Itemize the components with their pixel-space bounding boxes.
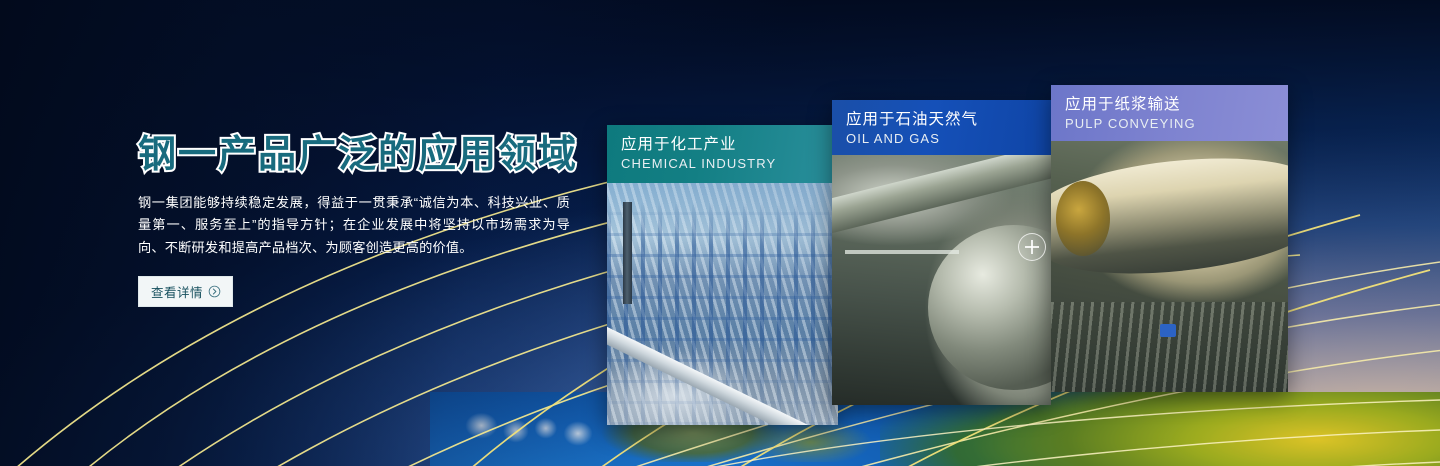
application-card-chemical[interactable]: 应用于化工产业 CHEMICAL INDUSTRY (607, 125, 838, 425)
page-title: 钢一产品广泛的应用领域 (138, 133, 578, 178)
hero-banner: 钢一产品广泛的应用领域 钢一集团能够持续稳定发展，得益于一贯秉承“诚信为本、科技… (0, 0, 1440, 466)
oil-and-gas-refinery-photo (832, 155, 1051, 405)
view-details-label: 查看详情 (151, 282, 203, 301)
chemical-plant-chimney (623, 202, 632, 304)
card-title-en: CHEMICAL INDUSTRY (621, 155, 838, 173)
card-header-chemical: 应用于化工产业 CHEMICAL INDUSTRY (607, 125, 838, 183)
card-header-pulp: 应用于纸浆输送 PULP CONVEYING (1051, 85, 1288, 141)
application-card-pulp[interactable]: 应用于纸浆输送 PULP CONVEYING (1051, 85, 1288, 392)
headline-block: 钢一产品广泛的应用领域 钢一集团能够持续稳定发展，得益于一贯秉承“诚信为本、科技… (138, 133, 578, 307)
card-title-en: OIL AND GAS (846, 130, 1051, 148)
paper-mill-roller-photo (1051, 141, 1288, 392)
mill-blue-fitting (1160, 324, 1176, 337)
card-title-cn: 应用于纸浆输送 (1065, 95, 1288, 115)
card-title-cn: 应用于石油天然气 (846, 110, 1051, 130)
plus-circle-icon[interactable] (1018, 233, 1046, 261)
card-title-en: PULP CONVEYING (1065, 115, 1288, 133)
mill-deck (1051, 302, 1288, 392)
card-header-oilgas: 应用于石油天然气 OIL AND GAS (832, 100, 1051, 155)
card-title-cn: 应用于化工产业 (621, 135, 838, 155)
headline-body-text: 钢一集团能够持续稳定发展，得益于一贯秉承“诚信为本、科技兴业、质量第一、服务至上… (138, 192, 570, 260)
refinery-railing (845, 250, 959, 254)
chemical-plant-photo (607, 183, 838, 425)
chevron-right-circle-icon (208, 285, 221, 298)
view-details-button[interactable]: 查看详情 (138, 276, 233, 307)
